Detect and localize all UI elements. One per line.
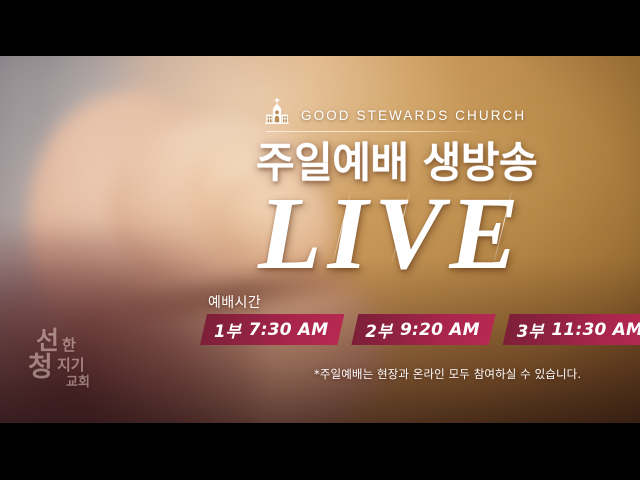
church-icon bbox=[262, 96, 292, 126]
video-frame-stage: 선 한 청 지기 교회 bbox=[0, 0, 640, 480]
bar-separator-2 bbox=[494, 314, 503, 345]
service-clock-1: 7:30 AM bbox=[249, 320, 329, 340]
bar-separator-1 bbox=[342, 314, 351, 345]
service-part-2: 2부 bbox=[365, 318, 392, 342]
letterbox-top bbox=[0, 0, 640, 56]
service-times-list: 1부 7:30 AM 2부 9:20 AM 3부 11:30 AM bbox=[200, 314, 640, 345]
service-clock-2: 9:20 AM bbox=[400, 320, 480, 340]
brand-name: GOOD STEWARDS CHURCH bbox=[301, 109, 526, 127]
service-part-1: 1부 bbox=[214, 318, 241, 342]
service-clock-3: 11:30 AM bbox=[551, 320, 640, 340]
service-part-3: 3부 bbox=[517, 318, 544, 342]
live-wordmark: LIVE bbox=[258, 184, 608, 284]
brand-row: GOOD STEWARDS CHURCH bbox=[262, 96, 526, 126]
service-time-label: 예배시간 bbox=[208, 292, 261, 312]
service-time-item-3: 3부 11:30 AM bbox=[503, 314, 640, 345]
service-time-item-1: 1부 7:30 AM bbox=[200, 314, 344, 345]
letterbox-bottom bbox=[0, 423, 640, 480]
brand-divider-rule bbox=[266, 131, 478, 132]
overlay-text-layer: GOOD STEWARDS CHURCH 주일예배 생방송 LIVE 예배시간 … bbox=[0, 56, 640, 423]
live-text: LIVE bbox=[258, 184, 608, 284]
footnote-text: *주일예배는 현장과 온라인 모두 참여하실 수 있습니다. bbox=[314, 366, 581, 382]
service-time-item-2: 2부 9:20 AM bbox=[351, 314, 495, 345]
